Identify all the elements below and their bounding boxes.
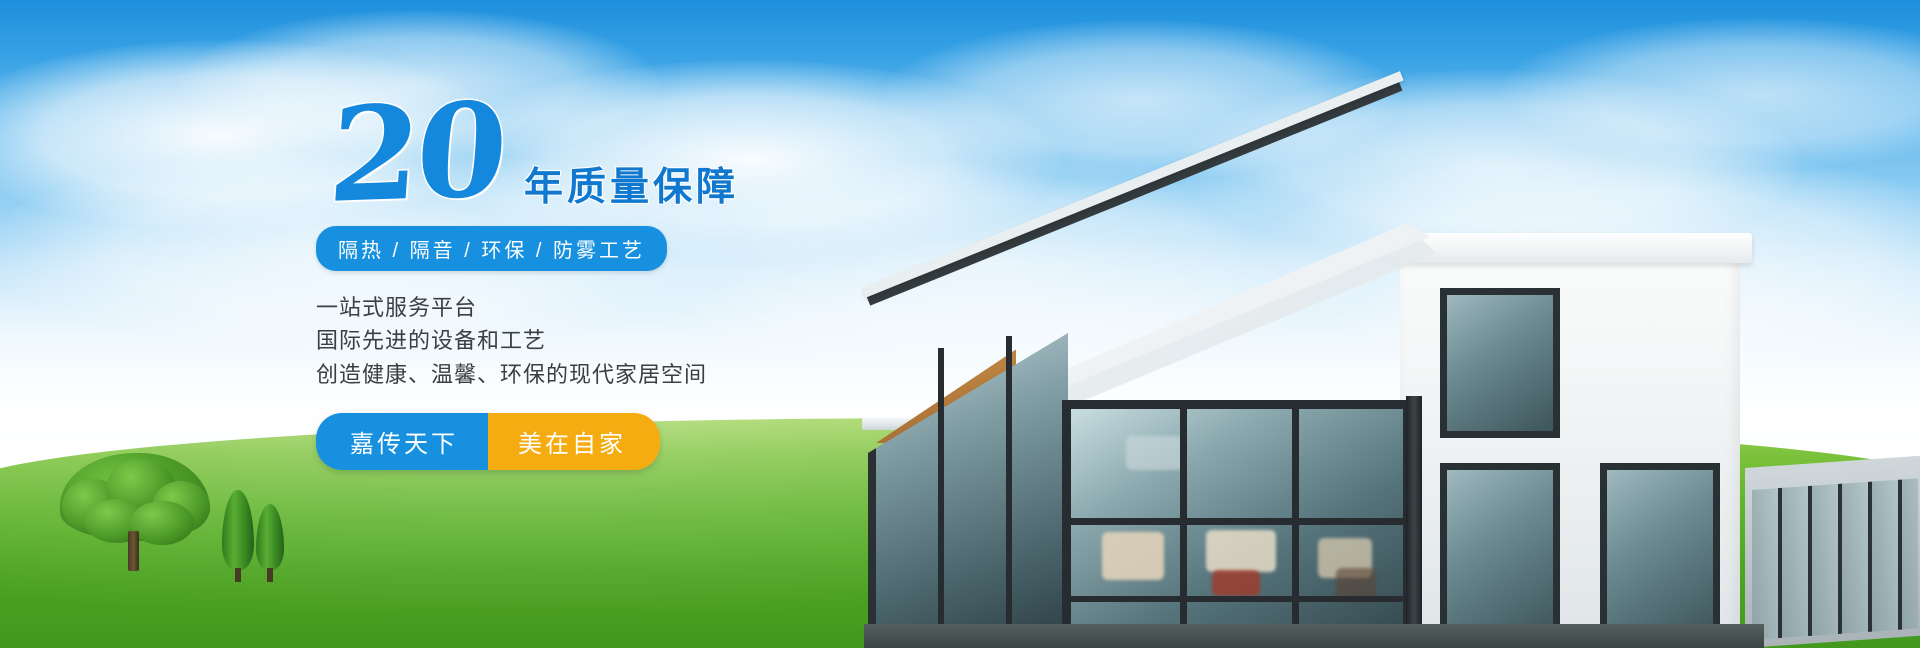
description-block: 一站式服务平台 国际先进的设备和工艺 创造健康、温馨、环保的现代家居空间 bbox=[316, 291, 746, 391]
headline-20-years: 20 年质量保障 bbox=[316, 96, 746, 208]
headline-number: 20 bbox=[325, 85, 508, 221]
cta-primary-button[interactable]: 嘉传天下 bbox=[316, 413, 488, 470]
description-line-1: 一站式服务平台 bbox=[316, 291, 746, 324]
cypress-tree-icon bbox=[222, 490, 254, 570]
broadleaf-tree-icon bbox=[60, 453, 210, 573]
cypress-tree-icon bbox=[256, 504, 284, 570]
description-line-2: 国际先进的设备和工艺 bbox=[316, 324, 746, 357]
promo-banner: 20 年质量保障 隔热 / 隔音 / 环保 / 防雾工艺 一站式服务平台 国际先… bbox=[0, 0, 1920, 648]
banner-copy: 20 年质量保障 隔热 / 隔音 / 环保 / 防雾工艺 一站式服务平台 国际先… bbox=[316, 96, 746, 470]
description-line-3: 创造健康、温馨、环保的现代家居空间 bbox=[316, 358, 746, 391]
cta-secondary-button[interactable]: 美在自家 bbox=[488, 413, 660, 470]
cta-button-group[interactable]: 嘉传天下 美在自家 bbox=[316, 413, 660, 470]
headline-years-label: 年质量保障 bbox=[524, 156, 739, 212]
features-pill: 隔热 / 隔音 / 环保 / 防雾工艺 bbox=[316, 226, 667, 271]
glass-sunroom-house bbox=[840, 118, 1920, 648]
